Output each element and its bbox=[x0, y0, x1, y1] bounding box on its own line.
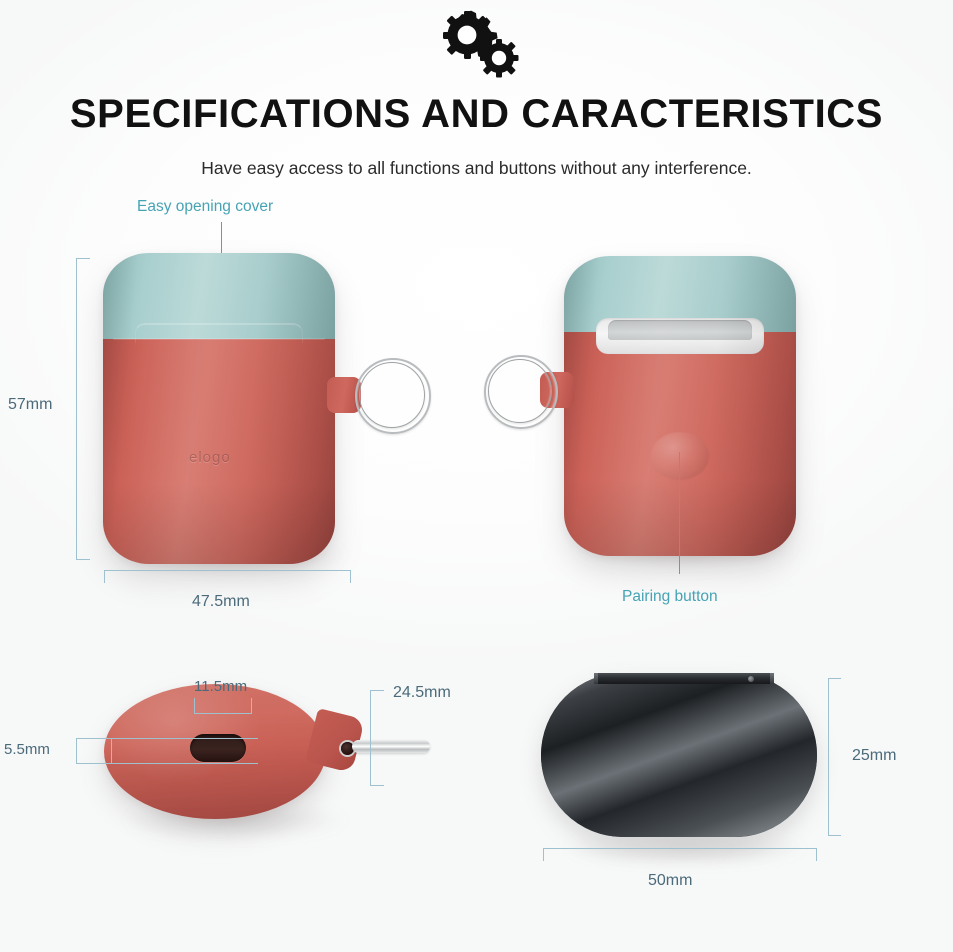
bottom-flat-ring bbox=[352, 740, 430, 753]
dim-label-57mm: 57mm bbox=[8, 396, 52, 414]
front-split-ring-inner bbox=[359, 362, 425, 428]
carabiner-gloss bbox=[541, 673, 817, 837]
dim-label-11.5mm: 11.5mm bbox=[194, 678, 247, 695]
dim-label-24.5mm: 24.5mm bbox=[393, 684, 451, 702]
callout-label-easy-opening-cover: Easy opening cover bbox=[137, 198, 273, 216]
bracket-port-width-11.5mm bbox=[194, 698, 252, 714]
carabiner-gate bbox=[594, 673, 774, 684]
dim-label-5.5mm: 5.5mm bbox=[4, 741, 50, 758]
bracket-width-47.5mm bbox=[104, 570, 351, 583]
bracket-carabiner-height-25mm bbox=[828, 678, 841, 836]
page-title: SPECIFICATIONS AND CARACTERISTICS bbox=[0, 92, 953, 137]
bracket-port-height-5.5mm bbox=[76, 738, 112, 764]
infographic-canvas: SPECIFICATIONS AND CARACTERISTICS Have e… bbox=[0, 0, 953, 952]
brand-logo: elogo bbox=[189, 449, 231, 466]
hinge-bar bbox=[608, 320, 752, 340]
bracket-carabiner-width-50mm bbox=[543, 848, 817, 861]
back-split-ring-inner bbox=[488, 359, 552, 423]
carabiner bbox=[541, 673, 817, 837]
dim-label-25mm: 25mm bbox=[852, 747, 896, 765]
bracket-ring-depth-24.5mm bbox=[370, 690, 384, 786]
page-subtitle: Have easy access to all functions and bu… bbox=[0, 158, 953, 179]
leader-5.5mm-bottom bbox=[112, 763, 258, 764]
lid-seam bbox=[113, 338, 325, 340]
lid-groove bbox=[135, 323, 303, 343]
leader-5.5mm-top bbox=[112, 738, 258, 739]
dim-label-50mm: 50mm bbox=[648, 872, 692, 890]
carabiner-gate-pin bbox=[748, 676, 754, 682]
callout-label-pairing-button: Pairing button bbox=[622, 588, 718, 606]
bracket-height-57mm bbox=[76, 258, 90, 560]
gears-icon bbox=[0, 8, 953, 86]
front-view-case: elogo bbox=[103, 253, 335, 564]
carabiner-gate-band-right bbox=[770, 673, 774, 684]
carabiner-gate-band-left bbox=[594, 673, 598, 684]
dim-label-47.5mm: 47.5mm bbox=[192, 593, 250, 611]
callout-line-pairing-button bbox=[679, 452, 680, 574]
